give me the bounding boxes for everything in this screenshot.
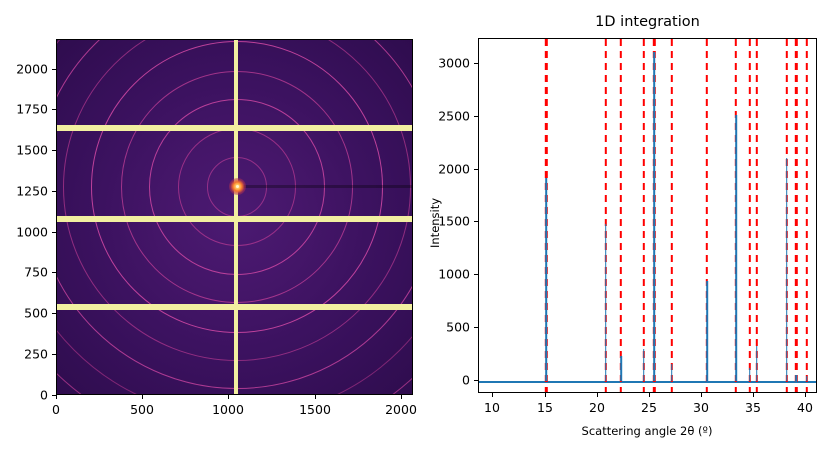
reference-line — [671, 39, 673, 392]
right-xtick-label: 10 — [484, 400, 500, 415]
right-xtick-label: 40 — [797, 400, 813, 415]
left-ytick-label: 250 — [14, 347, 48, 362]
right-xaxis-label: Scattering angle 2θ (º) — [582, 424, 713, 438]
left-ytick-label: 0 — [14, 388, 48, 403]
left-ytick — [52, 150, 56, 151]
plot-frame — [478, 38, 817, 393]
diffraction-peak — [546, 178, 548, 381]
right-ytick — [474, 169, 478, 170]
left-xtick — [228, 395, 229, 399]
right-ytick-label: 3000 — [436, 56, 470, 71]
detector-module-gap-vertical — [234, 39, 238, 395]
plot-title: 1D integration — [478, 14, 817, 30]
right-ytick-label: 1000 — [436, 267, 470, 282]
left-ytick — [52, 191, 56, 192]
left-ytick-label: 1250 — [14, 184, 48, 199]
detector-image-axes — [56, 39, 413, 395]
left-ytick — [52, 272, 56, 273]
diffraction-peak — [786, 158, 788, 381]
left-xtick-label: 0 — [52, 402, 60, 417]
reference-line — [756, 39, 758, 392]
right-xtick — [701, 393, 702, 397]
right-ytick — [474, 221, 478, 222]
right-xtick — [545, 393, 546, 397]
left-xtick — [142, 395, 143, 399]
right-ytick-label: 500 — [436, 320, 470, 335]
left-xtick-label: 1500 — [299, 402, 331, 417]
left-ytick — [52, 354, 56, 355]
left-ytick — [52, 109, 56, 110]
reference-line — [748, 39, 750, 392]
right-xtick — [492, 393, 493, 397]
left-ytick-label: 2000 — [14, 62, 48, 77]
beamstop-shadow — [242, 185, 413, 188]
right-ytick — [474, 327, 478, 328]
reference-line — [643, 39, 645, 392]
left-xtick — [56, 395, 57, 399]
diffraction-peak — [756, 346, 758, 381]
baseline-trace — [479, 381, 816, 383]
left-ytick-label: 750 — [14, 265, 48, 280]
reference-line — [620, 39, 622, 392]
diffraction-peak — [620, 356, 622, 381]
right-xtick — [597, 393, 598, 397]
diffraction-peak — [795, 375, 797, 382]
right-xtick-label: 35 — [745, 400, 761, 415]
left-xtick-label: 2000 — [385, 402, 417, 417]
left-xtick — [401, 395, 402, 399]
right-ytick-label: 2000 — [436, 162, 470, 177]
diffraction-peak — [643, 349, 645, 381]
integration-plot-axes — [478, 38, 817, 393]
matplotlib-figure: 0 500 1000 1500 2000 0 250 500 750 1000 … — [0, 0, 839, 475]
diffraction-peak — [605, 224, 607, 381]
left-ytick — [52, 69, 56, 70]
right-ytick-label: 2500 — [436, 109, 470, 124]
reference-line — [805, 39, 807, 392]
right-ytick-label: 0 — [436, 373, 470, 388]
right-ytick — [474, 63, 478, 64]
diffraction-peak — [653, 52, 655, 381]
diffraction-peak — [806, 376, 808, 381]
right-ytick — [474, 116, 478, 117]
detector-image — [56, 39, 413, 395]
left-ytick-label: 1000 — [14, 225, 48, 240]
diffraction-peak — [706, 281, 708, 382]
right-xtick-label: 15 — [537, 400, 553, 415]
left-ytick — [52, 313, 56, 314]
left-xtick — [315, 395, 316, 399]
diffraction-peak — [671, 364, 673, 381]
right-yaxis-label: Intensity — [428, 198, 442, 248]
right-xtick — [649, 393, 650, 397]
left-ytick — [52, 395, 56, 396]
left-ytick-label: 500 — [14, 306, 48, 321]
right-xtick-label: 20 — [589, 400, 605, 415]
left-ytick-label: 1500 — [14, 143, 48, 158]
right-xtick — [753, 393, 754, 397]
right-ytick — [474, 274, 478, 275]
right-xtick-label: 30 — [693, 400, 709, 415]
right-xtick-label: 25 — [641, 400, 657, 415]
diffraction-peak — [735, 115, 737, 381]
right-ytick — [474, 380, 478, 381]
right-xtick — [805, 393, 806, 397]
diffraction-peak — [749, 368, 751, 381]
left-ytick — [52, 232, 56, 233]
left-xtick-label: 500 — [130, 402, 154, 417]
left-ytick-label: 1750 — [14, 102, 48, 117]
reference-line — [795, 39, 797, 392]
left-xtick-label: 1000 — [212, 402, 244, 417]
